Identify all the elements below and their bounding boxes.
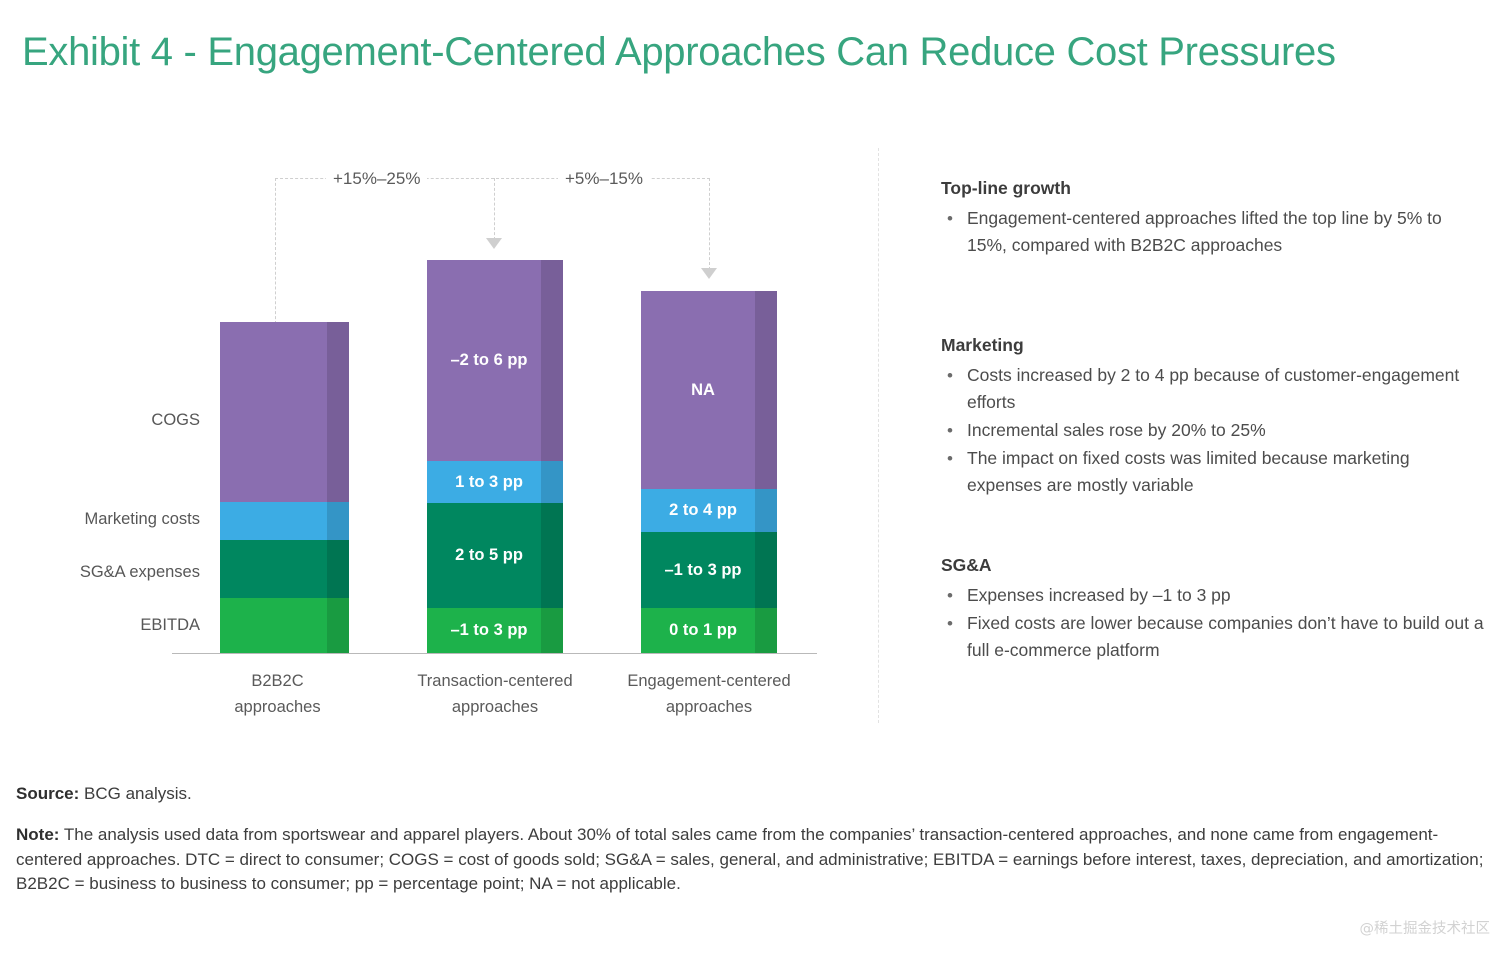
segment-value: 0 to 1 pp <box>669 621 737 640</box>
annotation-label-1: +15%–25% <box>326 169 427 189</box>
bar-shade <box>327 502 349 540</box>
segment-cogs-transaction: –2 to 6 pp <box>427 260 563 461</box>
insights-panel: Top-line growth Engagement-centered appr… <box>941 178 1486 694</box>
segment-value: NA <box>691 381 715 400</box>
panel-bullet-list: Engagement-centered approaches lifted th… <box>941 205 1486 259</box>
bar-transaction-centered[interactable]: –2 to 6 pp 1 to 3 pp 2 to 5 pp –1 to 3 p… <box>427 260 563 653</box>
source-label: Source: <box>16 784 79 803</box>
panel-heading: Top-line growth <box>941 178 1486 199</box>
bar-shade <box>755 489 777 532</box>
segment-cogs-b2b2c <box>220 322 349 502</box>
note-text: The analysis used data from sportswear a… <box>16 825 1484 893</box>
segment-ebitda-b2b2c <box>220 598 349 653</box>
panel-group-marketing: Marketing Costs increased by 2 to 4 pp b… <box>941 335 1486 499</box>
segment-ebitda-transaction: –1 to 3 pp <box>427 608 563 653</box>
panel-bullet-list: Expenses increased by –1 to 3 pp Fixed c… <box>941 582 1486 664</box>
list-item: Engagement-centered approaches lifted th… <box>941 205 1486 259</box>
segment-marketing-engagement: 2 to 4 pp <box>641 489 777 532</box>
x-axis-label-line1: Transaction-centered <box>395 668 595 694</box>
bar-shade <box>541 503 563 608</box>
row-label-sga-expenses: SG&A expenses <box>10 563 200 582</box>
bar-shade <box>541 461 563 503</box>
bar-shade <box>327 540 349 598</box>
bar-engagement-centered[interactable]: NA 2 to 4 pp –1 to 3 pp 0 to 1 pp <box>641 291 777 653</box>
row-label-marketing-costs: Marketing costs <box>10 510 200 529</box>
segment-marketing-b2b2c <box>220 502 349 540</box>
list-item: Expenses increased by –1 to 3 pp <box>941 582 1486 609</box>
panel-heading: SG&A <box>941 555 1486 576</box>
stacked-bar-chart: COGS Marketing costs SG&A expenses EBITD… <box>0 0 880 740</box>
source-text: BCG analysis. <box>79 784 191 803</box>
x-axis-label-line1: Engagement-centered <box>609 668 809 694</box>
bar-shade <box>541 608 563 653</box>
x-axis-baseline <box>172 653 817 654</box>
annotation-arrow-engagement <box>701 268 717 279</box>
row-label-ebitda: EBITDA <box>10 616 200 635</box>
x-axis-label-b2b2c: B2B2C approaches <box>185 668 370 720</box>
list-item: The impact on fixed costs was limited be… <box>941 445 1486 499</box>
bar-shade <box>755 291 777 489</box>
source-note: Source: BCG analysis. <box>16 782 192 806</box>
panel-group-top-line-growth: Top-line growth Engagement-centered appr… <box>941 178 1486 259</box>
x-axis-label-engagement: Engagement-centered approaches <box>609 668 809 720</box>
segment-sga-engagement: –1 to 3 pp <box>641 532 777 608</box>
footnote: Note: The analysis used data from sports… <box>16 823 1491 897</box>
list-item: Incremental sales rose by 20% to 25% <box>941 417 1486 444</box>
x-axis-label-transaction: Transaction-centered approaches <box>395 668 595 720</box>
segment-value: 2 to 4 pp <box>669 501 737 520</box>
bar-shade <box>327 322 349 502</box>
annotation-drop-b2b2c <box>275 178 276 324</box>
exhibit-page: Exhibit 4 - Engagement-Centered Approach… <box>0 0 1512 962</box>
segment-ebitda-engagement: 0 to 1 pp <box>641 608 777 653</box>
segment-sga-transaction: 2 to 5 pp <box>427 503 563 608</box>
x-axis-label-line2: approaches <box>395 694 595 720</box>
list-item: Costs increased by 2 to 4 pp because of … <box>941 362 1486 416</box>
annotation-arrow-transaction <box>486 238 502 249</box>
list-item: Fixed costs are lower because companies … <box>941 610 1486 664</box>
segment-value: –1 to 3 pp <box>450 621 527 640</box>
annotation-drop-transaction <box>494 178 495 240</box>
segment-value: 2 to 5 pp <box>455 546 523 565</box>
x-axis-label-line1: B2B2C <box>185 668 370 694</box>
x-axis-label-line2: approaches <box>609 694 809 720</box>
annotation-drop-engagement <box>709 178 710 270</box>
bar-shade <box>541 260 563 461</box>
segment-value: –1 to 3 pp <box>664 561 741 580</box>
watermark: @稀土掘金技术社区 <box>1360 917 1491 938</box>
panel-group-sga: SG&A Expenses increased by –1 to 3 pp Fi… <box>941 555 1486 664</box>
note-label: Note: <box>16 825 59 844</box>
segment-value: –2 to 6 pp <box>450 351 527 370</box>
panel-divider <box>878 148 879 723</box>
bar-shade <box>755 532 777 608</box>
bar-b2b2c[interactable] <box>220 322 349 653</box>
segment-sga-b2b2c <box>220 540 349 598</box>
x-axis-label-line2: approaches <box>185 694 370 720</box>
panel-bullet-list: Costs increased by 2 to 4 pp because of … <box>941 362 1486 499</box>
segment-cogs-engagement: NA <box>641 291 777 489</box>
segment-marketing-transaction: 1 to 3 pp <box>427 461 563 503</box>
annotation-label-2: +5%–15% <box>558 169 650 189</box>
bar-shade <box>755 608 777 653</box>
row-label-cogs: COGS <box>10 411 200 430</box>
panel-heading: Marketing <box>941 335 1486 356</box>
segment-value: 1 to 3 pp <box>455 473 523 492</box>
bar-shade <box>327 598 349 653</box>
